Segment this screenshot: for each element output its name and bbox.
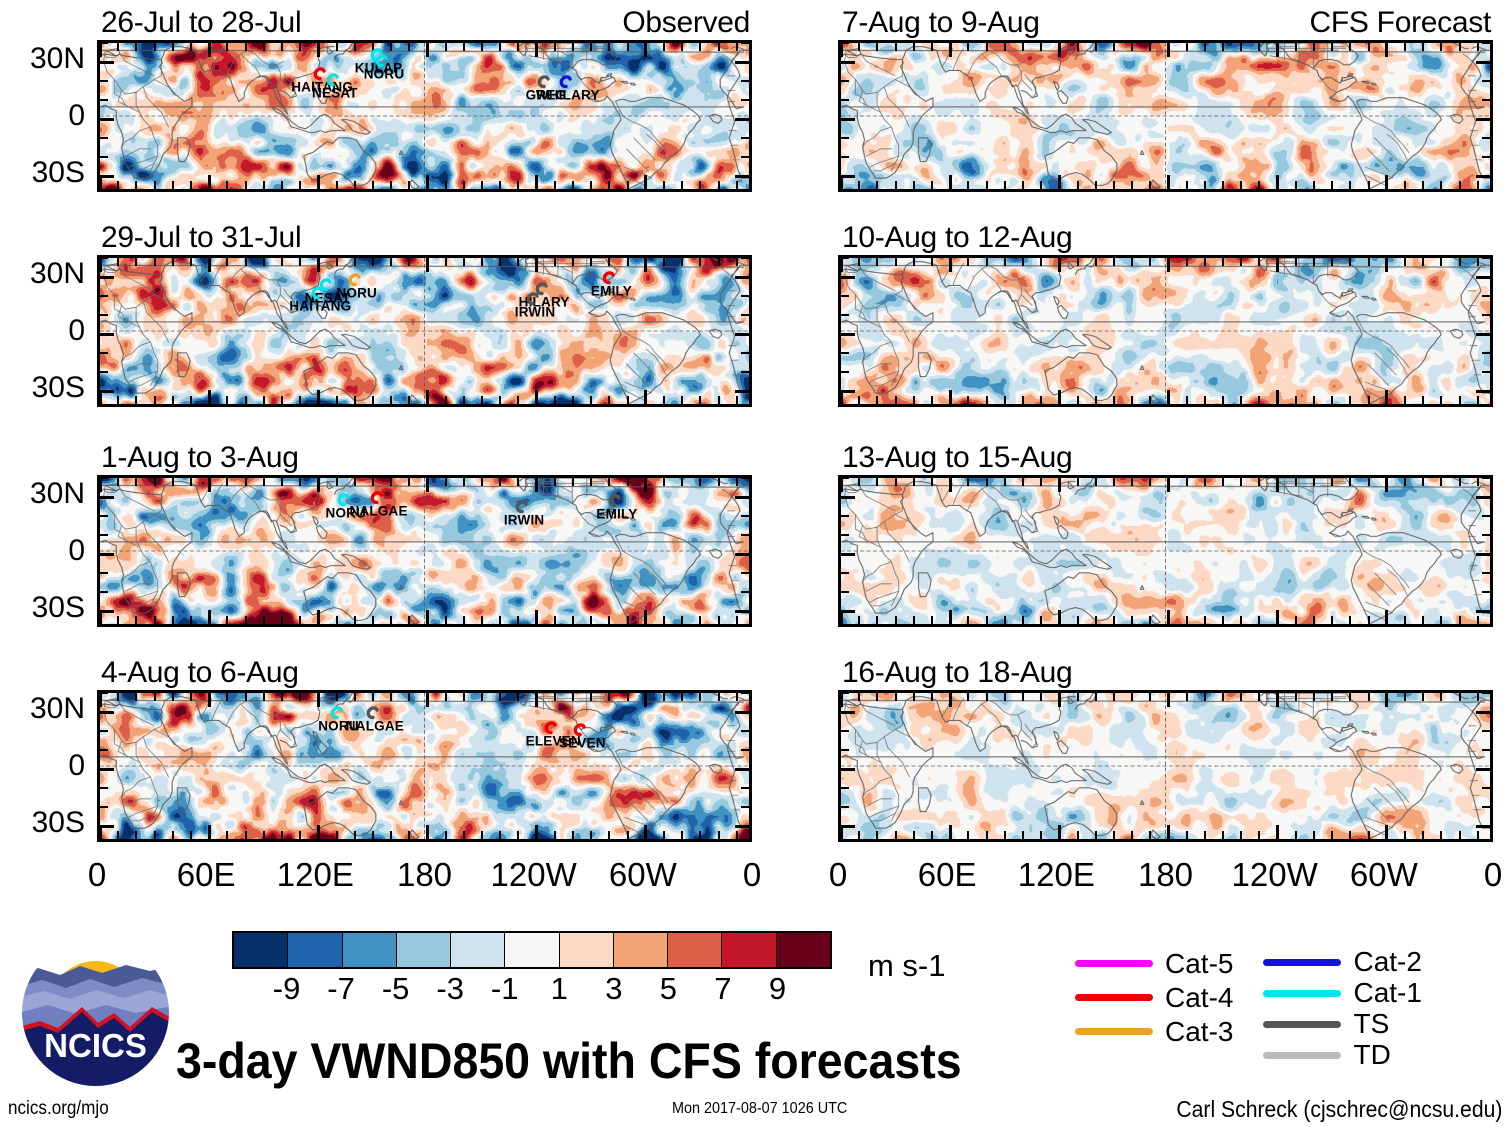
axis-tick xyxy=(99,749,108,751)
axis-tick xyxy=(913,396,915,405)
axis-tick xyxy=(840,333,855,336)
axis-tick xyxy=(1349,477,1351,486)
axis-tick xyxy=(967,396,969,405)
axis-tick xyxy=(1476,610,1491,613)
map-panel-obs-29jul-31jul: 29-Jul to 31-JulNESATHAITANGNORUHILARYIR… xyxy=(97,255,752,407)
map-area-cfs-13aug-15aug xyxy=(838,475,1493,627)
axis-tick xyxy=(135,692,137,701)
axis-tick xyxy=(226,396,228,405)
axis-tick xyxy=(663,42,665,51)
axis-tick xyxy=(967,181,969,190)
axis-tick xyxy=(208,42,211,57)
axis-tick xyxy=(741,749,750,751)
axis-tick xyxy=(741,572,750,574)
axis-tick xyxy=(99,175,114,178)
axis-tick xyxy=(354,181,356,190)
axis-tick xyxy=(840,137,849,139)
axis-tick xyxy=(1167,390,1170,405)
axis-tick xyxy=(735,768,750,771)
axis-tick xyxy=(117,616,119,625)
axis-tick xyxy=(736,692,738,701)
axis-tick xyxy=(172,181,174,190)
y-axis-label: 30N xyxy=(5,42,85,76)
axis-tick xyxy=(736,477,738,486)
legend-color-swatch xyxy=(1075,960,1153,967)
axis-tick xyxy=(99,295,108,297)
storm-label: SEVEN xyxy=(559,735,606,750)
axis-tick xyxy=(499,257,501,266)
axis-tick xyxy=(1422,477,1424,486)
axis-tick xyxy=(1040,181,1042,190)
y-axis-label: 0 xyxy=(5,534,85,568)
axis-tick xyxy=(1040,477,1042,486)
axis-tick xyxy=(608,477,610,486)
axis-tick xyxy=(858,181,860,190)
axis-tick xyxy=(1331,616,1333,625)
axis-tick xyxy=(741,295,750,297)
axis-tick xyxy=(986,831,988,840)
axis-tick xyxy=(718,692,720,701)
axis-tick xyxy=(840,534,849,536)
author-contact[interactable]: Carl Schreck (cjschrec@ncsu.edu) xyxy=(1176,1096,1502,1123)
axis-tick xyxy=(1022,692,1024,701)
axis-tick xyxy=(895,831,897,840)
x-axis-label: 60W xyxy=(1350,856,1418,894)
axis-tick xyxy=(1440,396,1442,405)
axis-tick xyxy=(1404,831,1406,840)
axis-tick xyxy=(1313,692,1315,701)
axis-tick xyxy=(281,831,283,840)
axis-tick xyxy=(1131,181,1133,190)
axis-tick xyxy=(336,477,338,486)
axis-tick xyxy=(481,616,483,625)
axis-tick xyxy=(949,390,952,405)
axis-tick xyxy=(445,42,447,51)
axis-tick xyxy=(663,477,665,486)
colorbar-tick-label: 3 xyxy=(605,971,622,1007)
axis-tick xyxy=(1276,692,1279,707)
axis-tick xyxy=(499,42,501,51)
colorbar: -9-7-5-3-113579 xyxy=(232,931,832,969)
axis-tick xyxy=(1240,257,1242,266)
axis-tick xyxy=(445,181,447,190)
axis-tick xyxy=(735,175,750,178)
axis-tick xyxy=(1204,477,1206,486)
axis-tick xyxy=(281,396,283,405)
axis-tick xyxy=(154,477,156,486)
axis-tick xyxy=(208,390,211,405)
axis-tick xyxy=(1276,175,1279,190)
panel-title-obs-26jul-28jul: 26-Jul to 28-Jul xyxy=(101,6,301,40)
legend-row-cat-5: Cat-5 xyxy=(1075,948,1233,979)
axis-tick xyxy=(190,616,192,625)
axis-tick xyxy=(895,477,897,486)
axis-tick xyxy=(1331,257,1333,266)
axis-tick xyxy=(172,831,174,840)
axis-tick xyxy=(718,396,720,405)
axis-tick xyxy=(741,42,750,44)
axis-tick xyxy=(535,477,538,492)
axis-tick xyxy=(590,692,592,701)
axis-tick xyxy=(627,181,629,190)
axis-tick xyxy=(736,257,738,266)
axis-tick xyxy=(372,257,374,266)
axis-tick xyxy=(1404,396,1406,405)
axis-tick xyxy=(1258,692,1260,701)
storm-label: HAITANG xyxy=(289,298,351,313)
axis-tick xyxy=(949,825,952,840)
axis-tick xyxy=(499,181,501,190)
y-axis-label: 30N xyxy=(5,477,85,511)
colorbar-tick-label: -9 xyxy=(273,971,301,1007)
axis-tick xyxy=(736,42,738,51)
axis-tick xyxy=(1258,831,1260,840)
axis-tick xyxy=(445,692,447,701)
axis-tick xyxy=(99,371,108,373)
axis-tick xyxy=(1058,825,1061,840)
axis-tick xyxy=(1040,42,1042,51)
axis-tick xyxy=(1440,831,1442,840)
legend-label: Cat-5 xyxy=(1165,950,1233,978)
axis-tick xyxy=(1331,477,1333,486)
axis-tick xyxy=(1276,390,1279,405)
axis-tick xyxy=(590,831,592,840)
site-link[interactable]: ncics.org/mjo xyxy=(8,1098,109,1120)
axis-tick xyxy=(154,181,156,190)
axis-tick xyxy=(535,390,538,405)
axis-tick xyxy=(390,477,392,486)
axis-tick xyxy=(840,787,849,789)
map-panel-cfs-13aug-15aug: 13-Aug to 15-Aug xyxy=(838,475,1493,627)
axis-tick xyxy=(99,572,108,574)
axis-tick xyxy=(895,181,897,190)
axis-tick xyxy=(1440,42,1442,51)
axis-tick xyxy=(1368,396,1370,405)
axis-tick xyxy=(1004,616,1006,625)
axis-tick xyxy=(554,692,556,701)
panel-title-cfs-10aug-12aug: 10-Aug to 12-Aug xyxy=(842,221,1072,255)
axis-tick xyxy=(408,396,410,405)
axis-tick xyxy=(840,156,849,158)
axis-tick xyxy=(840,496,855,499)
axis-tick xyxy=(840,477,843,492)
axis-tick xyxy=(949,257,952,272)
axis-tick xyxy=(681,477,683,486)
axis-tick xyxy=(263,396,265,405)
axis-tick xyxy=(554,616,556,625)
axis-tick xyxy=(99,390,114,393)
axis-tick xyxy=(1404,257,1406,266)
axis-tick xyxy=(840,553,855,556)
axis-tick xyxy=(1204,257,1206,266)
axis-tick xyxy=(1313,616,1315,625)
axis-tick xyxy=(99,333,114,336)
x-axis-label: 0 xyxy=(88,856,106,894)
axis-tick xyxy=(517,257,519,266)
axis-tick xyxy=(1095,616,1097,625)
axis-tick xyxy=(876,692,878,701)
axis-tick xyxy=(1295,477,1297,486)
axis-tick xyxy=(245,396,247,405)
axis-tick xyxy=(245,477,247,486)
axis-tick xyxy=(572,42,574,51)
axis-tick xyxy=(840,591,849,593)
axis-tick xyxy=(208,175,211,190)
axis-tick xyxy=(967,257,969,266)
axis-tick xyxy=(1295,616,1297,625)
vwnd-field-obs-4aug-6aug xyxy=(100,693,749,839)
axis-tick xyxy=(1222,616,1224,625)
axis-tick xyxy=(1440,616,1442,625)
axis-tick xyxy=(663,831,665,840)
axis-tick xyxy=(99,118,114,121)
axis-tick xyxy=(644,42,647,57)
panel-corner-label-obs-26jul-28jul: Observed xyxy=(622,6,750,40)
axis-tick xyxy=(117,42,119,51)
axis-tick xyxy=(1040,831,1042,840)
axis-tick xyxy=(135,616,137,625)
axis-tick xyxy=(1349,42,1351,51)
axis-tick xyxy=(741,352,750,354)
axis-tick xyxy=(99,352,108,354)
axis-tick xyxy=(1058,175,1061,190)
axis-tick xyxy=(1349,257,1351,266)
axis-tick xyxy=(663,181,665,190)
axis-tick xyxy=(299,477,301,486)
axis-tick xyxy=(263,181,265,190)
axis-tick xyxy=(1476,61,1491,64)
axis-tick xyxy=(590,396,592,405)
axis-tick xyxy=(1404,616,1406,625)
axis-tick xyxy=(517,692,519,701)
axis-tick xyxy=(1095,396,1097,405)
axis-tick xyxy=(1186,692,1188,701)
axis-tick xyxy=(1476,333,1491,336)
axis-tick xyxy=(1095,181,1097,190)
axis-tick xyxy=(590,257,592,266)
axis-tick xyxy=(172,692,174,701)
axis-tick xyxy=(627,692,629,701)
colorbar-swatch-2 xyxy=(343,933,397,967)
axis-tick xyxy=(1222,831,1224,840)
axis-tick xyxy=(99,534,108,536)
axis-tick xyxy=(1295,257,1297,266)
axis-tick xyxy=(858,257,860,266)
axis-tick xyxy=(99,137,108,139)
axis-tick xyxy=(1240,831,1242,840)
axis-tick xyxy=(840,314,849,316)
axis-tick xyxy=(876,616,878,625)
vwnd-field-cfs-7aug-9aug xyxy=(841,43,1490,189)
legend-label: TS xyxy=(1353,1010,1389,1038)
axis-tick xyxy=(572,477,574,486)
axis-tick xyxy=(1240,616,1242,625)
axis-tick xyxy=(135,257,137,266)
axis-tick xyxy=(354,257,356,266)
axis-tick xyxy=(426,610,429,625)
axis-tick xyxy=(1482,257,1491,259)
axis-tick xyxy=(99,257,102,272)
axis-tick xyxy=(1368,181,1370,190)
axis-tick xyxy=(1422,396,1424,405)
axis-tick xyxy=(390,692,392,701)
axis-tick xyxy=(986,42,988,51)
axis-tick xyxy=(1477,692,1479,701)
axis-tick xyxy=(840,257,849,259)
axis-tick xyxy=(426,175,429,190)
axis-tick xyxy=(741,156,750,158)
axis-tick xyxy=(1440,692,1442,701)
axis-tick xyxy=(1440,181,1442,190)
axis-tick xyxy=(1482,515,1491,517)
axis-tick xyxy=(354,692,356,701)
axis-tick xyxy=(554,181,556,190)
axis-tick xyxy=(735,496,750,499)
x-axis-label: 60W xyxy=(609,856,677,894)
panel-title-cfs-7aug-9aug: 7-Aug to 9-Aug xyxy=(842,6,1040,40)
axis-tick xyxy=(1368,692,1370,701)
axis-tick xyxy=(317,257,320,272)
axis-tick xyxy=(840,42,843,57)
axis-tick xyxy=(1186,42,1188,51)
axis-tick xyxy=(463,831,465,840)
axis-tick xyxy=(572,616,574,625)
axis-tick xyxy=(718,831,720,840)
axis-tick xyxy=(354,477,356,486)
legend-color-swatch xyxy=(1075,1028,1153,1035)
axis-tick xyxy=(1482,352,1491,354)
vwnd-field-cfs-13aug-15aug xyxy=(841,478,1490,624)
axis-tick xyxy=(1095,477,1097,486)
axis-tick xyxy=(1022,396,1024,405)
axis-tick xyxy=(535,825,538,840)
axis-tick xyxy=(1368,477,1370,486)
axis-tick xyxy=(1131,477,1133,486)
legend-color-swatch xyxy=(1075,994,1153,1001)
axis-tick xyxy=(735,553,750,556)
axis-tick xyxy=(736,616,738,625)
axis-tick xyxy=(1313,42,1315,51)
axis-tick xyxy=(263,831,265,840)
x-axis-left: 060E120E180120W60W0 xyxy=(97,856,752,896)
axis-tick xyxy=(1331,831,1333,840)
axis-tick xyxy=(390,831,392,840)
legend-row-td: TD xyxy=(1263,1041,1421,1069)
axis-tick xyxy=(627,831,629,840)
axis-tick xyxy=(858,42,860,51)
map-panel-cfs-7aug-9aug: 7-Aug to 9-AugCFS Forecast xyxy=(838,40,1493,192)
legend-color-swatch xyxy=(1263,1021,1341,1028)
legend-row-ts: TS xyxy=(1263,1010,1421,1038)
axis-tick xyxy=(535,692,538,707)
axis-tick xyxy=(1459,396,1461,405)
axis-tick xyxy=(572,257,574,266)
axis-tick xyxy=(840,295,849,297)
storm-label: NORU xyxy=(336,285,377,300)
axis-tick xyxy=(741,730,750,732)
axis-tick xyxy=(99,610,114,613)
axis-tick xyxy=(172,42,174,51)
axis-tick xyxy=(718,181,720,190)
axis-tick xyxy=(735,825,750,828)
axis-tick xyxy=(986,257,988,266)
vwnd-field-obs-26jul-28jul xyxy=(100,43,749,189)
axis-tick xyxy=(1004,257,1006,266)
axis-tick xyxy=(1222,692,1224,701)
axis-tick xyxy=(535,610,538,625)
axis-tick xyxy=(876,181,878,190)
axis-tick xyxy=(1482,314,1491,316)
axis-tick xyxy=(1095,42,1097,51)
axis-tick xyxy=(572,692,574,701)
colorbar-swatch-4 xyxy=(451,933,505,967)
axis-tick xyxy=(190,692,192,701)
axis-tick xyxy=(1476,175,1491,178)
axis-tick xyxy=(1476,276,1491,279)
y-axis-label: 30S xyxy=(5,591,85,625)
axis-tick xyxy=(1058,390,1061,405)
x-axis-label: 0 xyxy=(829,856,847,894)
colorbar-tick-label: 7 xyxy=(714,971,731,1007)
axis-tick xyxy=(1095,831,1097,840)
colorbar-units-label: m s-1 xyxy=(868,948,946,984)
y-axis-label: 30N xyxy=(5,257,85,291)
axis-tick xyxy=(1477,616,1479,625)
legend-color-swatch xyxy=(1263,1052,1341,1059)
axis-tick xyxy=(372,396,374,405)
axis-tick xyxy=(1459,831,1461,840)
axis-tick xyxy=(735,118,750,121)
axis-tick xyxy=(1482,534,1491,536)
axis-tick xyxy=(681,616,683,625)
axis-tick xyxy=(154,42,156,51)
axis-tick xyxy=(1482,80,1491,82)
x-axis-label: 180 xyxy=(1138,856,1193,894)
map-area-obs-29jul-31jul: NESATHAITANGNORUHILARYIRWINEMILY xyxy=(97,255,752,407)
axis-tick xyxy=(426,257,429,272)
axis-tick xyxy=(735,610,750,613)
axis-tick xyxy=(463,692,465,701)
axis-tick xyxy=(840,477,849,479)
legend-label: TD xyxy=(1353,1041,1390,1069)
storm-label: NALGAE xyxy=(349,503,407,518)
axis-tick xyxy=(208,610,211,625)
axis-tick xyxy=(627,477,629,486)
panel-title-obs-1aug-3aug: 1-Aug to 3-Aug xyxy=(101,441,299,475)
axis-tick xyxy=(931,616,933,625)
axis-tick xyxy=(1422,181,1424,190)
axis-tick xyxy=(1477,396,1479,405)
axis-tick xyxy=(736,831,738,840)
axis-tick xyxy=(1022,616,1024,625)
y-axis-label: 30S xyxy=(5,806,85,840)
axis-tick xyxy=(1022,477,1024,486)
axis-tick xyxy=(986,616,988,625)
axis-tick xyxy=(1149,692,1151,701)
axis-tick xyxy=(154,257,156,266)
axis-tick xyxy=(718,616,720,625)
map-panel-cfs-16aug-18aug: 16-Aug to 18-Aug xyxy=(838,690,1493,842)
colorbar-tick-label: -3 xyxy=(436,971,464,1007)
axis-tick xyxy=(481,257,483,266)
axis-tick xyxy=(117,477,119,486)
axis-tick xyxy=(1004,396,1006,405)
axis-tick xyxy=(1422,831,1424,840)
axis-tick xyxy=(263,42,265,51)
axis-tick xyxy=(967,831,969,840)
axis-tick xyxy=(1349,396,1351,405)
axis-tick xyxy=(840,711,855,714)
